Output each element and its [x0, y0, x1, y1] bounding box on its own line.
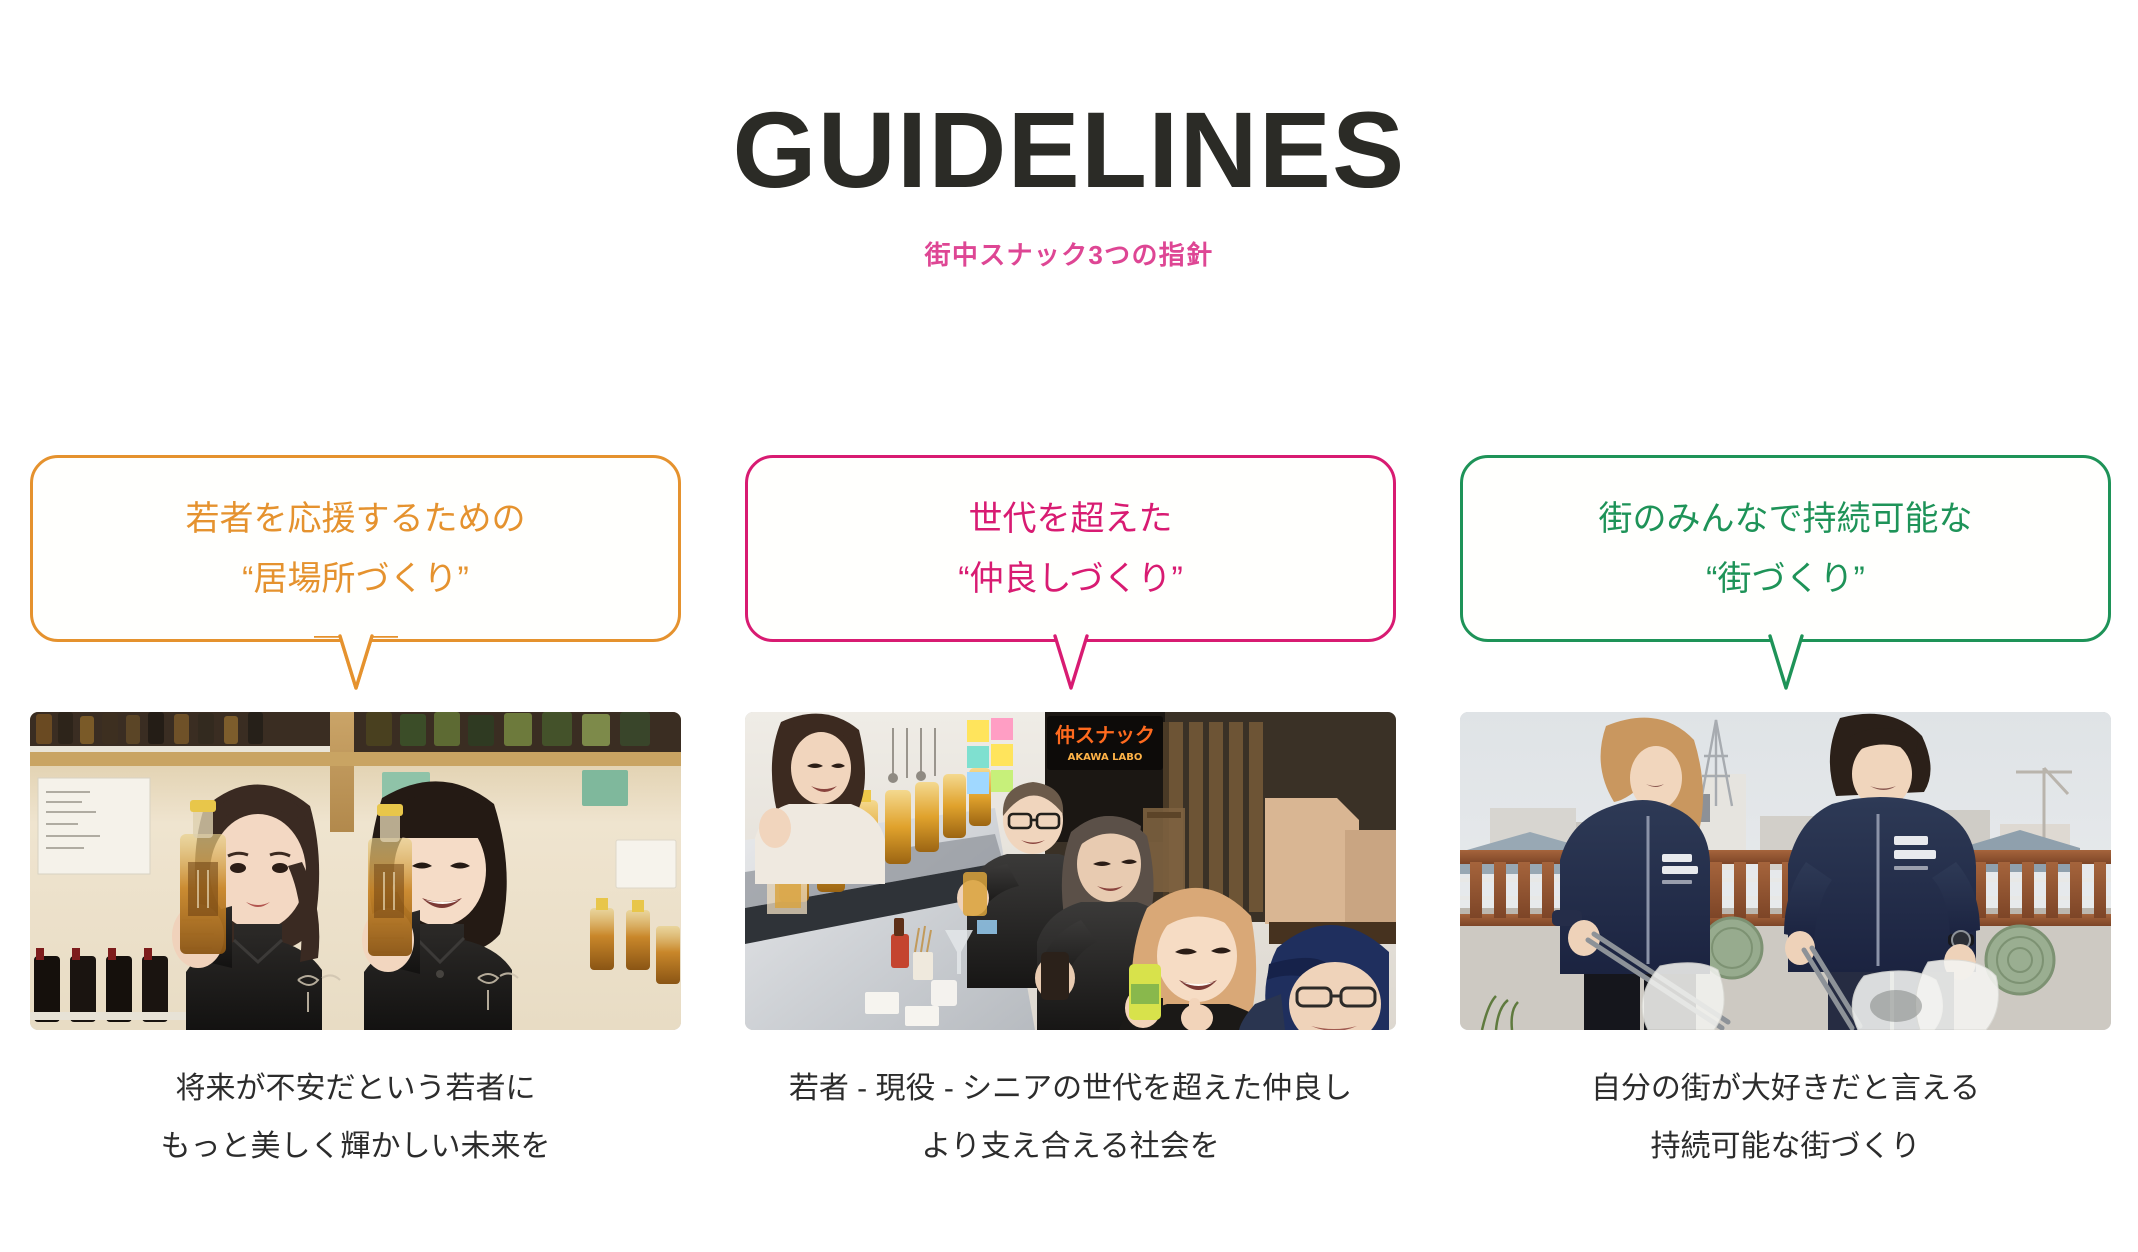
speech-bubble-1: 若者を応援するための “居場所づくり” — [30, 455, 681, 702]
caption-line-2b: より支え合える社会を — [789, 1132, 1352, 1162]
bubble-line-3a: 街のみんなで持続可能な — [1599, 502, 1973, 536]
caption-line-3a: 自分の街が大好きだと言える — [1591, 1074, 1980, 1104]
bubble-body-1: 若者を応援するための “居場所づくり” — [30, 455, 681, 642]
speech-bubble-3: 街のみんなで持続可能な “街づくり” — [1460, 455, 2111, 702]
caption-line-2a: 若者 - 現役 - シニアの世代を超えた仲良し — [789, 1074, 1352, 1104]
guideline-photo-2: 仲スナック AKAWA LABO — [745, 712, 1396, 1030]
page-title: GUIDELINES — [0, 96, 2138, 204]
svg-text:AKAWA LABO: AKAWA LABO — [1068, 752, 1143, 763]
bubble-tail-1 — [314, 634, 398, 696]
bubble-tail-3 — [1744, 634, 1828, 696]
bubble-body-3: 街のみんなで持続可能な “街づくり” — [1460, 455, 2111, 642]
guideline-column-3: 街のみんなで持続可能な “街づくり” — [1460, 455, 2111, 1162]
bubble-line-2b: “仲良しづくり” — [958, 562, 1183, 596]
bubble-body-2: 世代を超えた “仲良しづくり” — [745, 455, 1396, 642]
guidelines-grid: 若者を応援するための “居場所づくり” — [0, 455, 2138, 1162]
page-header: GUIDELINES 街中スナック3つの指針 — [0, 0, 2138, 268]
svg-text:仲スナック: 仲スナック — [1055, 723, 1155, 747]
caption-line-1b: もっと美しく輝かしい未来を — [161, 1132, 551, 1162]
guideline-column-1: 若者を応援するための “居場所づくり” — [30, 455, 681, 1162]
guideline-caption-1: 将来が不安だという若者に もっと美しく輝かしい未来を — [161, 1074, 551, 1162]
guideline-photo-1 — [30, 712, 681, 1030]
caption-line-3b: 持続可能な街づくり — [1591, 1132, 1980, 1162]
speech-bubble-2: 世代を超えた “仲良しづくり” — [745, 455, 1396, 702]
guideline-caption-2: 若者 - 現役 - シニアの世代を超えた仲良し より支え合える社会を — [789, 1074, 1352, 1162]
bubble-tail-2 — [1029, 634, 1113, 696]
bubble-line-2a: 世代を超えた — [969, 502, 1173, 536]
bubble-line-1a: 若者を応援するための — [186, 502, 526, 536]
caption-line-1a: 将来が不安だという若者に — [161, 1074, 551, 1104]
guideline-photo-3 — [1460, 712, 2111, 1030]
guideline-column-2: 世代を超えた “仲良しづくり” — [745, 455, 1396, 1162]
bubble-line-1b: “居場所づくり” — [242, 562, 469, 596]
guideline-caption-3: 自分の街が大好きだと言える 持続可能な街づくり — [1591, 1074, 1980, 1162]
page-subtitle: 街中スナック3つの指針 — [0, 242, 2138, 268]
bubble-line-3b: “街づくり” — [1706, 562, 1865, 596]
